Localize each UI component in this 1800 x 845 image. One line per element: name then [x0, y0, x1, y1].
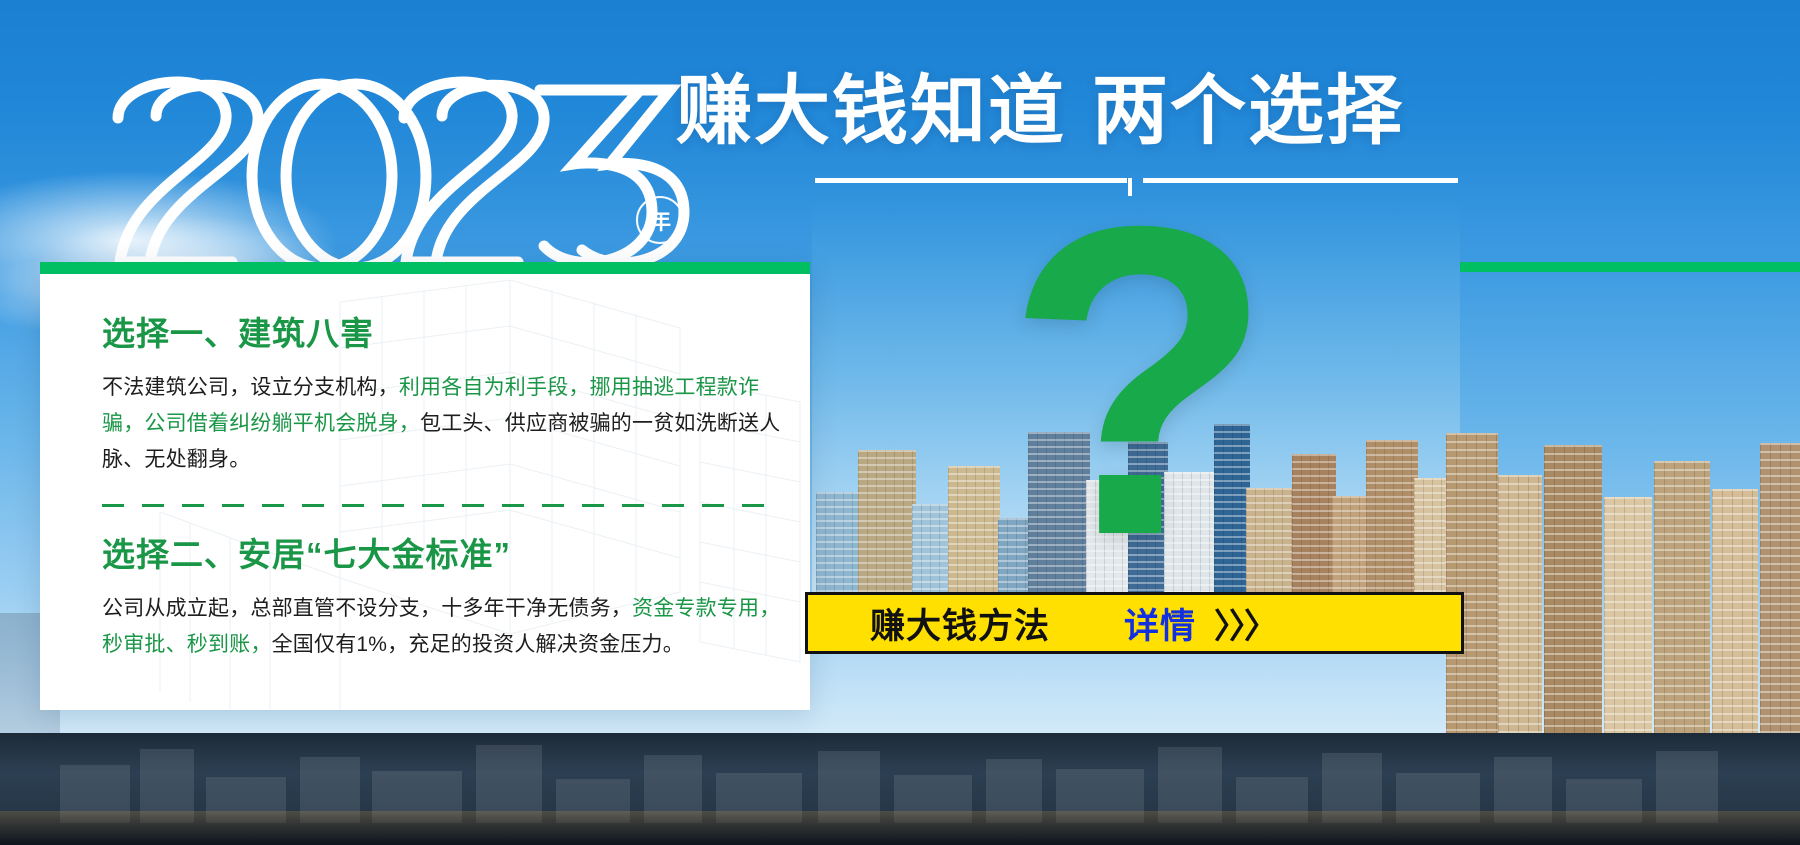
option-two-seg-1: 公司从成立起，总部直管不设分支，十多年干净无债务，: [102, 597, 632, 620]
option-two-text: 公司从成立起，总部直管不设分支，十多年干净无债务，资金专款专用，秒审批、秒到账，…: [102, 591, 782, 663]
option-two-seg-3: 全国仅有1%，充足的投资人解决资金压力。: [272, 633, 684, 656]
question-mark-icon: ?: [1005, 206, 1274, 558]
card-top-accent-bar: [40, 262, 810, 274]
bottom-photo-strip: [0, 733, 1800, 845]
year-2023-graphic: [104, 56, 724, 276]
option-one-text: 不法建筑公司，设立分支机构，利用各自为利手段，挪用抽逃工程款诈骗，公司借着纠纷躺…: [102, 370, 782, 478]
card-body: 选择一、建筑八害 不法建筑公司，设立分支机构，利用各自为利手段，挪用抽逃工程款诈…: [102, 314, 782, 663]
right-tower-cluster: [1440, 418, 1800, 733]
option-two-block: 选择二、安居“七大金标准” 公司从成立起，总部直管不设分支，十多年干净无债务，资…: [102, 535, 782, 663]
option-one-title: 选择一、建筑八害: [102, 314, 782, 354]
option-one-seg-1: 不法建筑公司，设立分支机构，: [102, 376, 399, 399]
cta-button[interactable]: 赚大钱方法 详情 〉〉〉: [805, 592, 1464, 654]
green-accent-bar-right: [1460, 262, 1800, 272]
banner-stage: 年 赚大钱知道两个选择 TWO CHOOSE ?: [0, 0, 1800, 845]
year-suffix-badge: 年: [636, 196, 684, 244]
cta-sub-label: 详情: [1124, 598, 1196, 649]
option-one-block: 选择一、建筑八害 不法建筑公司，设立分支机构，利用各自为利手段，挪用抽逃工程款诈…: [102, 314, 782, 478]
option-two-title: 选择二、安居“七大金标准”: [102, 535, 782, 575]
chevron-right-icon: 〉〉〉: [1214, 599, 1276, 648]
content-card: 选择一、建筑八害 不法建筑公司，设立分支机构，利用各自为利手段，挪用抽逃工程款诈…: [40, 262, 810, 710]
section-divider: [102, 504, 782, 507]
strip-glow: [0, 811, 1800, 845]
cta-main-label: 赚大钱方法: [870, 598, 1050, 649]
